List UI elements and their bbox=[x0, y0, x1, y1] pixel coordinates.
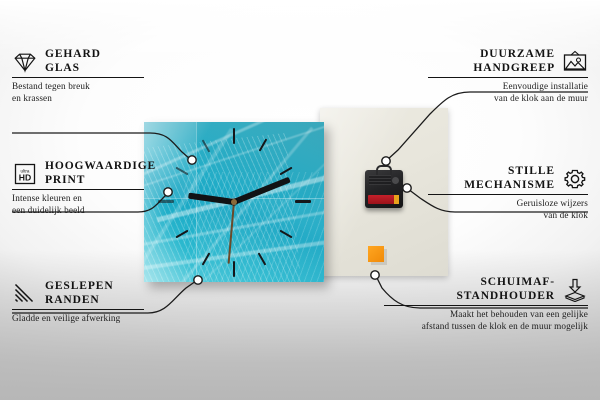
clock-movement bbox=[365, 170, 403, 208]
feature-subtitle-1: Bestand tegen breuk bbox=[12, 81, 144, 92]
foam-spacer bbox=[368, 246, 384, 262]
battery-terminal bbox=[394, 195, 399, 204]
feature-geslepen-randen[interactable]: GESLEPEN RANDEN Gladde en veilige afwerk… bbox=[12, 280, 144, 325]
feature-title: GEHARD GLAS bbox=[45, 48, 101, 75]
feature-subtitle-1: Maakt het behouden van een gelijke bbox=[384, 309, 588, 320]
feature-subtitle-2: een duidelijk beeld bbox=[12, 205, 144, 216]
feature-gehard-glas[interactable]: GEHARD GLAS Bestand tegen breuk en krass… bbox=[12, 48, 144, 104]
diamond-icon bbox=[12, 50, 38, 74]
feature-title: STILLE MECHANISME bbox=[428, 165, 555, 192]
feature-stille-mechanisme[interactable]: STILLE MECHANISME Geruisloze wijzers van… bbox=[428, 165, 588, 221]
svg-text:HD: HD bbox=[19, 172, 31, 182]
clock-tick bbox=[233, 128, 235, 144]
feature-header: ultra HD HOOGWAARDIGE PRINT bbox=[12, 160, 144, 187]
feature-title: HOOGWAARDIGE PRINT bbox=[45, 160, 156, 187]
feature-subtitle-2: en krassen bbox=[12, 93, 144, 104]
glass-pane bbox=[196, 198, 324, 282]
feature-subtitle-2: van de klok aan de muur bbox=[428, 93, 588, 104]
ultra-hd-icon: ultra HD bbox=[12, 162, 38, 186]
feature-title: GESLEPEN RANDEN bbox=[45, 280, 114, 307]
feature-rule bbox=[428, 194, 588, 195]
feature-header: STILLE MECHANISME bbox=[428, 165, 588, 192]
feature-header: SCHUIMAF- STANDHOUDER bbox=[384, 276, 588, 303]
foam-spacer-icon bbox=[562, 278, 588, 302]
feature-rule bbox=[12, 309, 144, 310]
gear-icon bbox=[562, 167, 588, 191]
picture-frame-icon bbox=[562, 50, 588, 74]
feature-subtitle-2: van de klok bbox=[428, 210, 588, 221]
feature-title: DUURZAME HANDGREEP bbox=[428, 48, 555, 75]
feature-header: GEHARD GLAS bbox=[12, 48, 144, 75]
feature-header: GESLEPEN RANDEN bbox=[12, 280, 144, 307]
feature-title: SCHUIMAF- STANDHOUDER bbox=[384, 276, 555, 303]
feature-rule bbox=[12, 189, 144, 190]
polished-edges-icon bbox=[12, 282, 38, 306]
feature-subtitle-1: Eenvoudige installatie bbox=[428, 81, 588, 92]
feature-hoogwaardige-print[interactable]: ultra HD HOOGWAARDIGE PRINT Intense kleu… bbox=[12, 160, 144, 216]
clock-tick bbox=[295, 200, 311, 203]
feature-subtitle-1: Geruisloze wijzers bbox=[428, 198, 588, 209]
feature-subtitle-2: afstand tussen de klok en de muur mogeli… bbox=[384, 321, 588, 332]
movement-label bbox=[369, 175, 391, 185]
feature-header: DUURZAME HANDGREEP bbox=[428, 48, 588, 75]
feature-rule bbox=[428, 77, 588, 78]
feature-schuimafstandhouder[interactable]: SCHUIMAF- STANDHOUDER Maakt het behouden… bbox=[384, 276, 588, 332]
product-group bbox=[140, 100, 340, 285]
movement-hanger bbox=[376, 165, 392, 175]
feature-subtitle-1: Intense kleuren en bbox=[12, 193, 144, 204]
feature-duurzame-handgreep[interactable]: DUURZAME HANDGREEP Eenvoudige installati… bbox=[428, 48, 588, 104]
hand-center-cap bbox=[231, 199, 237, 205]
glass-seam bbox=[196, 122, 197, 282]
infographic-canvas: GEHARD GLAS Bestand tegen breuk en krass… bbox=[0, 0, 600, 400]
clock-tick bbox=[233, 261, 235, 277]
feature-rule bbox=[12, 77, 144, 78]
glass-clock-face bbox=[144, 122, 324, 282]
clock-tick bbox=[158, 200, 174, 203]
feature-rule bbox=[384, 305, 588, 306]
feature-subtitle-1: Gladde en veilige afwerking bbox=[12, 313, 144, 324]
battery bbox=[368, 195, 399, 204]
movement-shaft bbox=[392, 177, 399, 184]
